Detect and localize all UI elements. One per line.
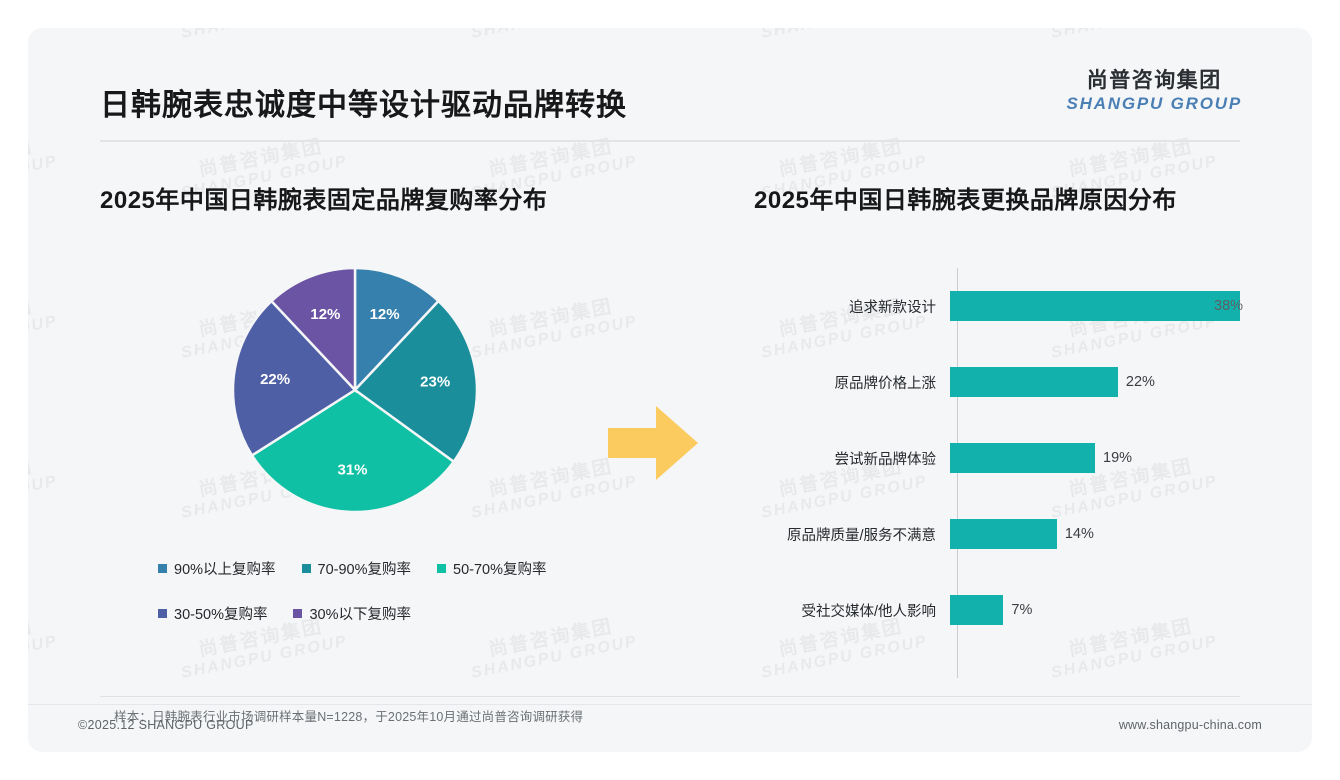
legend-row: 90%以上复购率70-90%复购率50-70%复购率 <box>158 558 678 579</box>
bar-fill[interactable] <box>950 519 1057 549</box>
legend-label: 30-50%复购率 <box>174 603 267 624</box>
bar-row: 追求新款设计38% <box>754 268 1264 344</box>
legend-item[interactable]: 70-90%复购率 <box>302 558 411 579</box>
bar-chart-title: 2025年中国日韩腕表更换品牌原因分布 <box>754 180 1264 215</box>
bar-category-label: 尝试新品牌体验 <box>754 448 950 469</box>
bar-value-label: 22% <box>1126 374 1155 390</box>
footer-divider <box>28 704 1312 705</box>
bar-row: 尝试新品牌体验19% <box>754 420 1264 496</box>
bar-value-label: 19% <box>1103 450 1132 466</box>
page-title: 日韩腕表忠诚度中等设计驱动品牌转换 <box>100 80 627 124</box>
bar-category-label: 原品牌质量/服务不满意 <box>754 524 950 545</box>
source-divider <box>100 696 1240 697</box>
pie-slice-value-label: 23% <box>420 373 450 390</box>
pie-chart-svg: 12%23%31%22%12% <box>230 265 480 515</box>
legend-swatch-icon <box>293 609 302 618</box>
header-divider <box>100 140 1240 142</box>
slide-canvas: 尚普咨询集团SHANGPU GROUP尚普咨询集团SHANGPU GROUP尚普… <box>0 0 1340 780</box>
legend-label: 70-90%复购率 <box>318 558 411 579</box>
bar-chart-panel: 2025年中国日韩腕表更换品牌原因分布 追求新款设计38%原品牌价格上涨22%尝… <box>754 180 1264 680</box>
bar-value-label: 38% <box>1214 298 1243 314</box>
slide-card: 尚普咨询集团SHANGPU GROUP尚普咨询集团SHANGPU GROUP尚普… <box>28 28 1312 752</box>
pie-slice-value-label: 31% <box>337 461 367 478</box>
bar-fill[interactable] <box>950 443 1095 473</box>
bar-value-label: 7% <box>1011 602 1032 618</box>
pie-slice-value-label: 12% <box>370 306 400 323</box>
logo-chinese-text: 尚普咨询集团 <box>1067 68 1242 94</box>
right-arrow-icon <box>608 404 700 487</box>
bar-row: 原品牌质量/服务不满意14% <box>754 496 1264 572</box>
footer-website[interactable]: www.shangpu-china.com <box>1119 718 1262 732</box>
bar-chart: 追求新款设计38%原品牌价格上涨22%尝试新品牌体验19%原品牌质量/服务不满意… <box>754 268 1264 678</box>
bar-track: 22% <box>950 344 1264 420</box>
legend-row: 30-50%复购率30%以下复购率 <box>158 603 678 624</box>
slide-header: 日韩腕表忠诚度中等设计驱动品牌转换 尚普咨询集团 SHANGPU GROUP <box>28 28 1312 122</box>
bar-category-label: 受社交媒体/他人影响 <box>754 600 950 621</box>
watermark-text: 尚普咨询集团SHANGPU GROUP <box>28 132 59 203</box>
right-arrow-svg <box>608 404 700 482</box>
legend-swatch-icon <box>158 564 167 573</box>
legend-label: 30%以下复购率 <box>309 603 411 624</box>
legend-label: 50-70%复购率 <box>453 558 546 579</box>
watermark-text: 尚普咨询集团SHANGPU GROUP <box>28 292 59 363</box>
legend-swatch-icon <box>158 609 167 618</box>
legend-item[interactable]: 50-70%复购率 <box>437 558 546 579</box>
logo-english-text: SHANGPU GROUP <box>1067 94 1242 114</box>
watermark-text: 尚普咨询集团SHANGPU GROUP <box>28 612 59 683</box>
bar-fill[interactable] <box>950 291 1240 321</box>
legend-item[interactable]: 30-50%复购率 <box>158 603 267 624</box>
watermark-text: 尚普咨询集团SHANGPU GROUP <box>28 452 59 523</box>
bar-fill[interactable] <box>950 367 1118 397</box>
pie-chart-title: 2025年中国日韩腕表固定品牌复购率分布 <box>100 180 700 215</box>
bar-track: 14% <box>950 496 1264 572</box>
bar-track: 7% <box>950 572 1264 648</box>
legend-swatch-icon <box>437 564 446 573</box>
bar-value-label: 14% <box>1065 526 1094 542</box>
pie-slice-value-label: 22% <box>260 371 290 388</box>
bar-category-label: 原品牌价格上涨 <box>754 372 950 393</box>
bar-track: 19% <box>950 420 1264 496</box>
pie-chart-legend: 90%以上复购率70-90%复购率50-70%复购率30-50%复购率30%以下… <box>158 558 678 648</box>
slide-footer: ©2025.12 SHANGPU GROUP www.shangpu-china… <box>28 704 1312 752</box>
pie-chart: 12%23%31%22%12% <box>230 265 480 515</box>
legend-swatch-icon <box>302 564 311 573</box>
bar-category-label: 追求新款设计 <box>754 296 950 317</box>
bar-fill[interactable] <box>950 595 1003 625</box>
legend-item[interactable]: 90%以上复购率 <box>158 558 276 579</box>
bar-row: 受社交媒体/他人影响7% <box>754 572 1264 648</box>
bar-row: 原品牌价格上涨22% <box>754 344 1264 420</box>
pie-slice-value-label: 12% <box>310 306 340 323</box>
bar-track: 38% <box>950 268 1264 344</box>
legend-item[interactable]: 30%以下复购率 <box>293 603 411 624</box>
brand-logo: 尚普咨询集团 SHANGPU GROUP <box>1067 68 1242 115</box>
footer-copyright: ©2025.12 SHANGPU GROUP <box>78 718 254 732</box>
legend-label: 90%以上复购率 <box>174 558 276 579</box>
